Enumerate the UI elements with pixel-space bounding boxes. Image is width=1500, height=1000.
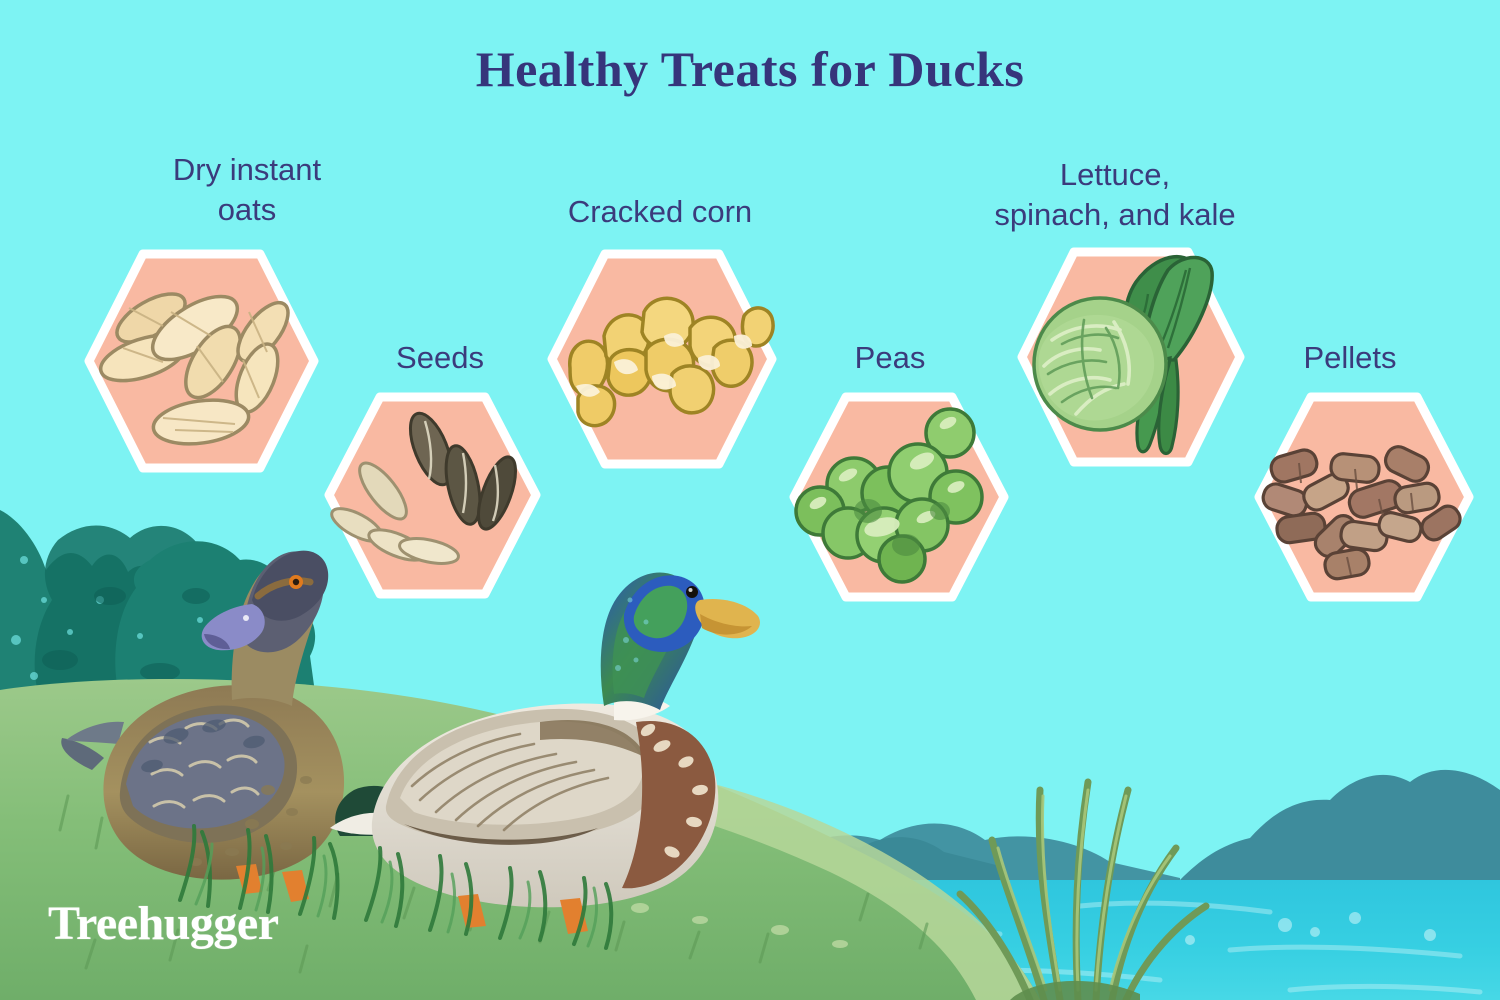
treat-hex-peas[interactable]	[790, 393, 1008, 601]
treat-label-seeds: Seeds	[340, 338, 540, 378]
treat-hex-pellets[interactable]	[1255, 393, 1473, 601]
infographic-canvas: Healthy Treats for Ducks Dry instant oat…	[0, 0, 1500, 1000]
treehugger-logo[interactable]: Treehugger	[48, 896, 279, 951]
treat-label-peas: Peas	[790, 338, 990, 378]
treat-label-cracked-corn: Cracked corn	[515, 192, 805, 232]
treat-hex-lettuce-spinach-kale[interactable]	[1018, 248, 1244, 466]
treat-label-dry-instant-oats: Dry instant oats	[82, 150, 412, 229]
treat-label-lettuce-spinach-kale: Lettuce, spinach, and kale	[935, 155, 1295, 234]
treat-label-pellets: Pellets	[1250, 338, 1450, 378]
treat-hex-seeds[interactable]	[325, 393, 540, 598]
treat-hex-cracked-corn[interactable]	[548, 250, 776, 468]
treat-hex-dry-instant-oats[interactable]	[85, 250, 318, 472]
page-title: Healthy Treats for Ducks	[0, 40, 1500, 98]
